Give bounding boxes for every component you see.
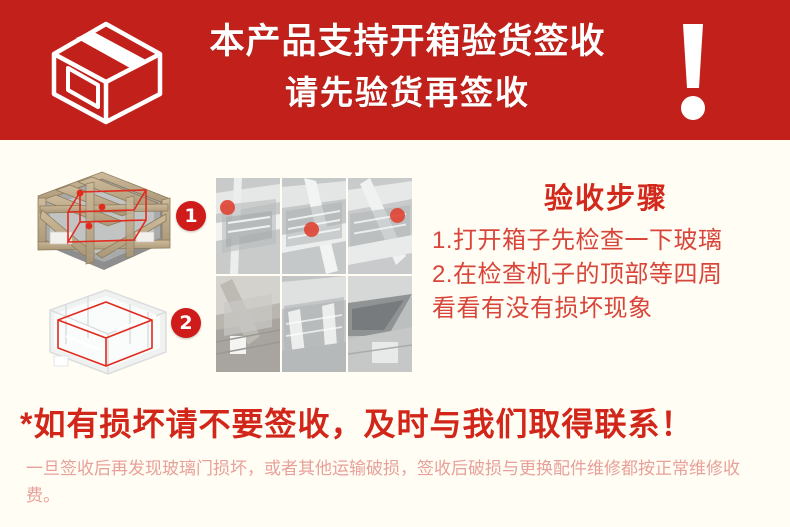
header-banner: 本产品支持开箱验货签收 请先验货再签收 <box>0 0 790 140</box>
crate-detail-photo-5 <box>282 276 346 372</box>
step-item-2: 2.在检查机子的顶部等四周 <box>432 258 780 292</box>
crate-detail-photo-4 <box>216 276 280 372</box>
crate-detail-photo-6 <box>348 276 412 372</box>
warning-fineprint: 一旦签收后再发现玻璃门损坏，或者其他运输破损，签收后破损与更换配件维修都按正常维… <box>26 455 768 509</box>
warning-headline: *如有损坏请不要签收，及时与我们取得联系！ <box>20 402 780 446</box>
photo-badge-1: 1 <box>176 201 206 231</box>
damage-marker-dot <box>220 200 235 215</box>
banner-title-block: 本产品支持开箱验货签收 请先验货再签收 <box>175 16 640 118</box>
inspection-steps-panel: 验收步骤 1.打开箱子先检查一下玻璃 2.在检查机子的顶部等四周 看看有没有损坏… <box>432 180 780 326</box>
crate-detail-photo-3 <box>348 178 412 274</box>
photo-badge-2: 2 <box>171 308 201 338</box>
inspection-photo-grid <box>216 178 412 372</box>
crate-detail-photo-2 <box>282 178 346 274</box>
steps-title: 验收步骤 <box>432 180 780 218</box>
left-photo-column: 1 2 <box>14 168 210 380</box>
step-item-1: 1.打开箱子先检查一下玻璃 <box>432 224 780 258</box>
step-item-2-continued: 看看有没有损坏现象 <box>432 292 780 326</box>
banner-title-line-1: 本产品支持开箱验货签收 <box>175 16 640 68</box>
exclamation-mark-icon <box>672 22 714 122</box>
product-inspection-banner-page: 本产品支持开箱验货签收 请先验货再签收 <box>0 0 790 527</box>
wooden-crate-photo <box>26 170 174 278</box>
damage-marker-dot <box>390 208 405 223</box>
banner-title-line-2: 请先验货再签收 <box>175 68 640 118</box>
crate-detail-photo-1 <box>216 178 280 274</box>
damage-marker-dot <box>304 222 319 237</box>
open-box-icon <box>42 16 170 128</box>
glass-crate-photo <box>36 286 176 378</box>
